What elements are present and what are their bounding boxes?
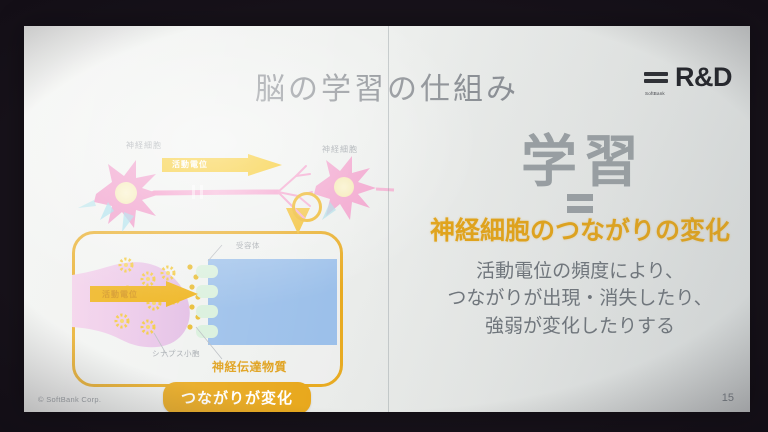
neuron-right-icon: [314, 156, 394, 220]
body-line-2: つながりが出現・消失したり、: [410, 285, 750, 313]
body-line-1: 活動電位の頻度により、: [410, 258, 750, 286]
result-pill-connection-changes: つながりが変化: [163, 382, 311, 412]
photo-of-projected-slide: 脳の学習の仕組み SoftBank R&D 神経細胞 神経細胞: [0, 0, 768, 432]
label-receptor: 受容体: [236, 240, 260, 251]
body-text: 活動電位の頻度により、 つながりが出現・消失したり、 強弱が変化したりする: [410, 258, 750, 341]
page-title: 脳の学習の仕組み: [24, 64, 750, 108]
keyword-learning: 学習: [410, 134, 750, 190]
label-action-potential-top: 活動電位: [172, 159, 208, 170]
neurons-svg: [64, 116, 394, 246]
label-neurotransmitter: 神経伝達物質: [212, 358, 287, 375]
presentation-slide: 脳の学習の仕組み SoftBank R&D 神経細胞 神経細胞: [24, 26, 750, 412]
softbank-logo-caption: SoftBank: [645, 91, 665, 96]
action-potential-arrow-top: 活動電位: [162, 154, 282, 176]
softbank-rd-logo: SoftBank R&D: [644, 64, 732, 91]
rd-wordmark: R&D: [675, 64, 732, 91]
label-action-potential-inset: 活動電位: [102, 289, 138, 300]
copyright-notice: © SoftBank Corp.: [38, 395, 101, 404]
magnifier-circle-icon: [292, 192, 322, 222]
definition-text: 神経細胞のつながりの変化: [410, 218, 750, 246]
equals-symbol-icon: [567, 194, 593, 213]
page-number: 15: [722, 392, 734, 404]
neuron-left-icon: [78, 160, 160, 232]
body-line-3: 強弱が変化したりする: [410, 313, 750, 341]
neuron-pair-diagram: 神経細胞 神経細胞: [64, 116, 394, 246]
softbank-logo-icon: SoftBank: [644, 72, 668, 83]
axon-line: [154, 192, 278, 193]
label-synaptic-vesicle: シナプス小胞: [152, 348, 200, 359]
softbank-bars-icon: [644, 72, 668, 83]
right-text-column: 学習 神経細胞のつながりの変化 活動電位の頻度により、 つながりが出現・消失した…: [410, 134, 750, 340]
action-potential-arrow-inset: 活動電位: [90, 281, 198, 307]
